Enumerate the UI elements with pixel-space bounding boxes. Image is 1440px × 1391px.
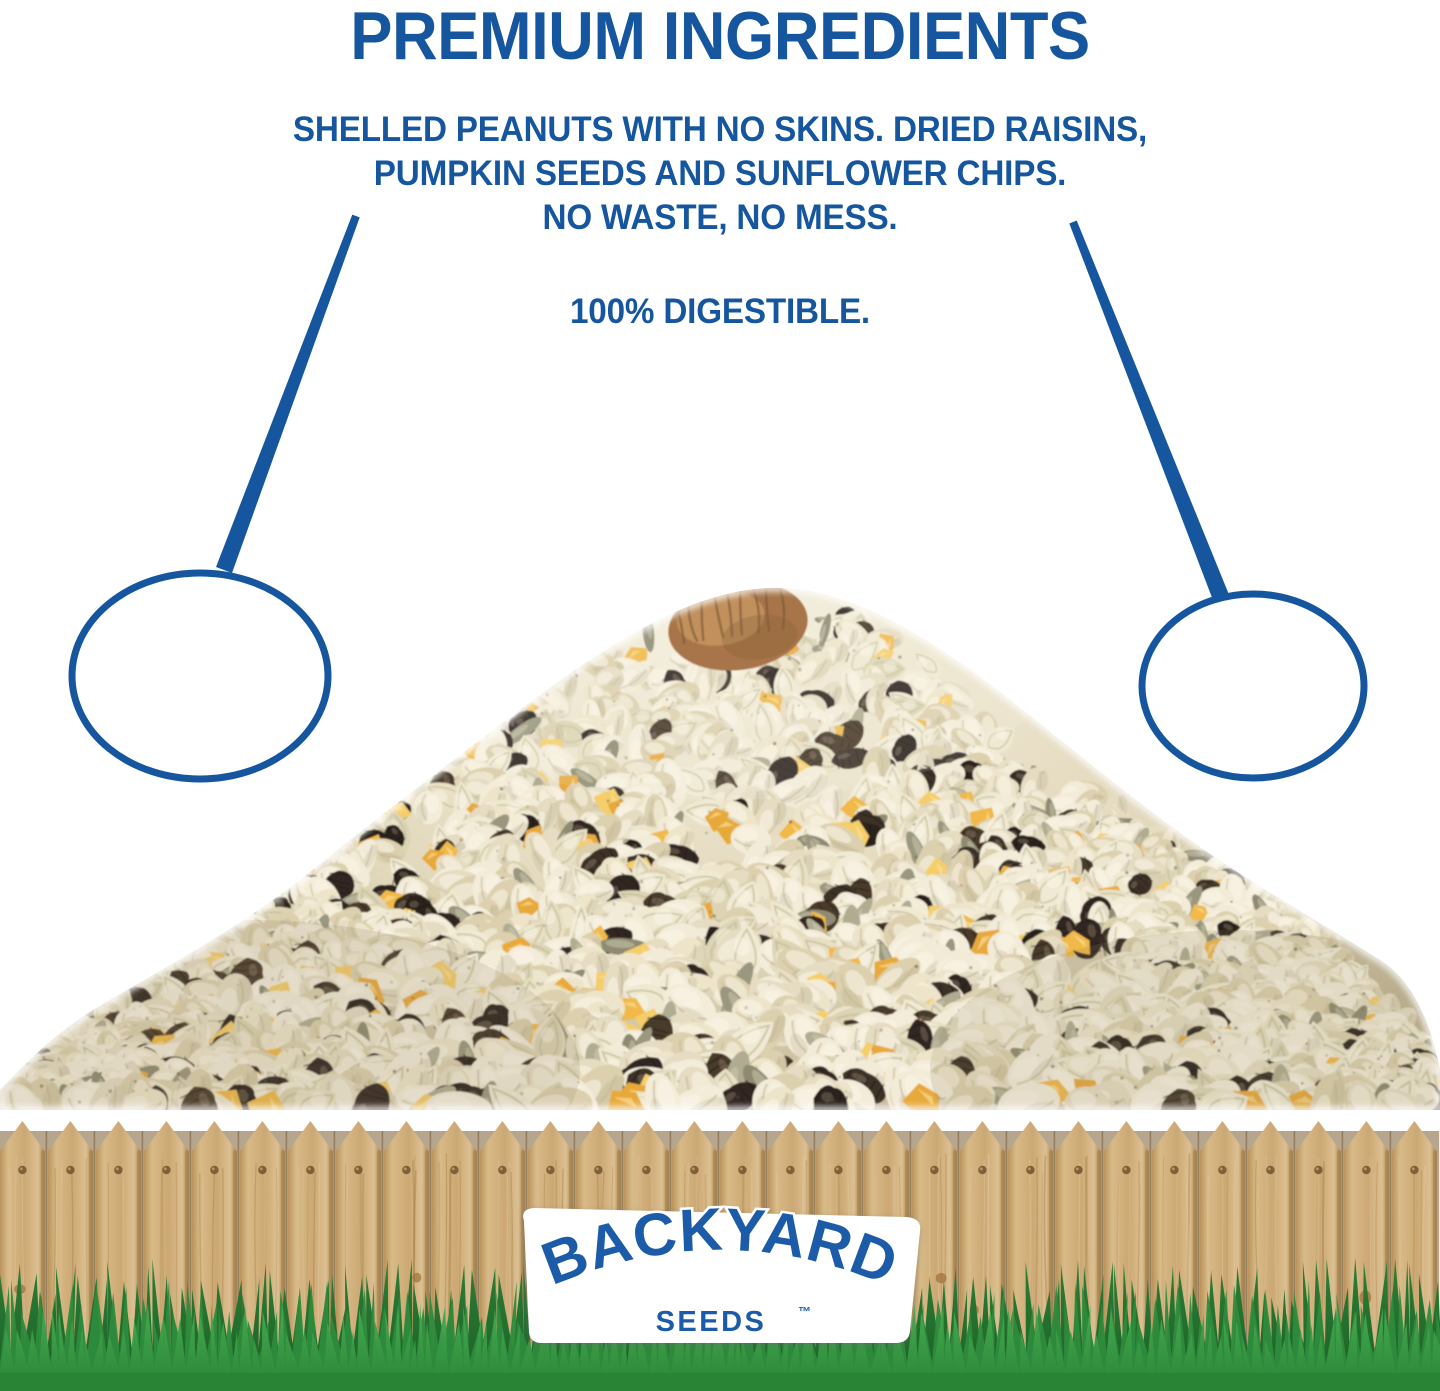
ingredient-description-line-1: SHELLED PEANUTS WITH NO SKINS. DRIED RAI…: [36, 108, 1404, 152]
product-marketing-image: PREMIUM INGREDIENTS SHELLED PEANUTS WITH…: [0, 0, 1440, 1391]
ingredient-description-line-3: NO WASTE, NO MESS.: [36, 196, 1404, 240]
seed-mix-illustration: [0, 370, 1440, 1110]
ingredient-description: SHELLED PEANUTS WITH NO SKINS. DRIED RAI…: [36, 108, 1404, 240]
trademark-symbol: ™: [798, 1304, 811, 1319]
ingredient-description-line-2: PUMPKIN SEEDS AND SUNFLOWER CHIPS.: [36, 152, 1404, 196]
brand-logo[interactable]: BACKYARD SEEDS ™: [486, 1203, 954, 1353]
product-photo: [0, 370, 1440, 1110]
page-title: PREMIUM INGREDIENTS: [50, 2, 1389, 70]
logo-word-seeds: SEEDS: [656, 1306, 767, 1338]
backyard-seeds-badge: BACKYARD SEEDS ™: [486, 1203, 954, 1353]
digestibility-claim: 100% DIGESTIBLE.: [36, 292, 1404, 332]
